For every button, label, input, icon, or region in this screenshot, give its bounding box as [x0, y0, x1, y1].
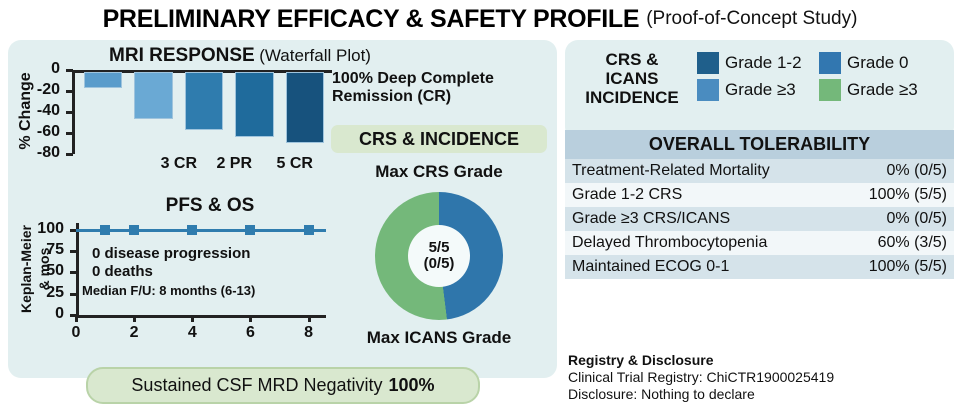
waterfall-bar [134, 72, 172, 119]
legend-item-label: Grade ≥3 [725, 80, 796, 100]
page-title-main: PRELIMINARY EFFICACY & SAFETY PROFILE [103, 5, 640, 34]
waterfall-y-tick-label: 0 [20, 64, 60, 74]
table-row: Treatment-Related Mortality 0% (0/5) [565, 159, 954, 183]
registry-disclosure: Registry & Disclosure Clinical Trial Reg… [568, 352, 958, 403]
donut-center-line2: (0/5) [424, 256, 455, 272]
km-x-tick [191, 315, 194, 322]
legend-item: Grade 0 [819, 52, 949, 74]
legend-swatch-icon [819, 52, 841, 74]
waterfall-y-tick-label: -60 [20, 127, 60, 137]
mrd-banner-value: 100% [389, 375, 435, 396]
legend-swatch-icon [697, 79, 719, 101]
table-cell-value: 100% (5/5) [828, 255, 954, 279]
legend-swatch-icon [819, 79, 841, 101]
km-note-followup: Median F/U: 8 months (6-13) [82, 283, 255, 298]
registry-heading: Registry & Disclosure [568, 352, 958, 369]
legend-title: CRS & ICANS INCIDENCE [573, 50, 691, 107]
registry-disclosure-text: Disclosure: Nothing to declare [568, 386, 958, 403]
km-x-tick [249, 315, 252, 322]
legend-items: Grade 1-2 Grade 0 Grade ≥3 Grade ≥3 [697, 52, 949, 101]
legend-item-label: Grade 0 [847, 53, 908, 73]
table-cell-label: Treatment-Related Mortality [565, 159, 828, 183]
table-row: Grade ≥3 CRS/ICANS 0% (0/5) [565, 207, 954, 231]
km-y-tick-label: 50 [24, 266, 64, 276]
table-cell-value: 0% (0/5) [828, 159, 954, 183]
waterfall-y-tick [66, 132, 73, 135]
table-cell-value: 60% (3/5) [828, 231, 954, 255]
legend-swatch-icon [697, 52, 719, 74]
cr-callout-line1: 100% Deep Complete [332, 70, 547, 88]
km-x-tick [75, 315, 78, 322]
kaplan-meier-chart: Keplan-Meier& mos0255075100024680 diseas… [14, 215, 334, 345]
table-cell-value: 0% (0/5) [828, 207, 954, 231]
donut-center-label: 5/5 (0/5) [424, 240, 455, 272]
km-data-marker [245, 225, 255, 235]
tolerability-table: OVERALL TOLERABILITY Treatment-Related M… [565, 130, 954, 279]
legend-item: Grade ≥3 [697, 79, 819, 101]
km-data-marker [304, 225, 314, 235]
mrd-banner-text: Sustained CSF MRD Negativity [131, 375, 382, 396]
waterfall-x-tick-label: 3 CR [155, 155, 203, 173]
km-x-tick [308, 315, 311, 322]
tolerability-table-body: Treatment-Related Mortality 0% (0/5) Gra… [565, 159, 954, 279]
km-note-progression: 0 disease progression [92, 245, 250, 262]
table-cell-label: Grade ≥3 CRS/ICANS [565, 207, 828, 231]
mri-response-heading: MRI RESPONSE (Waterfall Plot) [95, 45, 385, 67]
poster-figure: PRELIMINARY EFFICACY & SAFETY PROFILE (P… [0, 0, 960, 417]
crs-incidence-banner: CRS & INCIDENCE [331, 125, 547, 153]
mrd-negativity-banner: Sustained CSF MRD Negativity 100% [86, 367, 480, 404]
km-note-deaths: 0 deaths [92, 263, 153, 280]
cr-callout: 100% Deep Complete Remission (CR) [332, 70, 547, 106]
legend-item-label: Grade ≥3 [847, 80, 918, 100]
km-data-marker [100, 225, 110, 235]
km-y-tick [70, 293, 77, 296]
km-y-axis-line [76, 223, 79, 315]
waterfall-x-tick-label: 2 PR [210, 155, 258, 173]
cr-callout-line2: Remission (CR) [332, 88, 547, 106]
waterfall-bar [235, 72, 273, 137]
waterfall-bar [185, 72, 223, 130]
legend-item-label: Grade 1-2 [725, 53, 802, 73]
max-grade-donut-chart: 5/5 (0/5) [375, 186, 503, 326]
waterfall-y-tick-label: -40 [20, 106, 60, 116]
table-row: Grade 1-2 CRS 100% (5/5) [565, 183, 954, 207]
table-cell-value: 100% (5/5) [828, 183, 954, 207]
km-survival-line [76, 229, 326, 232]
registry-trial-id: Clinical Trial Registry: ChiCTR190002541… [568, 369, 958, 386]
km-x-tick-label: 6 [236, 324, 264, 342]
km-data-marker [129, 225, 139, 235]
legend-title-line2: ICANS [573, 69, 691, 88]
legend-title-line1: CRS & [573, 50, 691, 69]
waterfall-y-tick [66, 69, 73, 72]
km-x-tick-label: 0 [62, 324, 90, 342]
km-x-axis-line [76, 315, 326, 318]
waterfall-bar [286, 72, 324, 143]
km-x-tick-label: 8 [295, 324, 323, 342]
km-x-tick [133, 315, 136, 322]
km-x-tick-label: 2 [120, 324, 148, 342]
km-y-tick-label: 25 [24, 288, 64, 298]
km-y-tick [70, 250, 77, 253]
waterfall-y-tick [66, 90, 73, 93]
page-title-sub: (Proof-of-Concept Study) [646, 8, 857, 30]
waterfall-y-tick-label: -80 [20, 148, 60, 158]
table-cell-label: Grade 1-2 CRS [565, 183, 828, 207]
km-data-marker [187, 225, 197, 235]
waterfall-x-tick-label: 5 CR [271, 155, 319, 173]
legend-title-line3: INCIDENCE [573, 88, 691, 107]
table-row: Delayed Thrombocytopenia 60% (3/5) [565, 231, 954, 255]
table-header-row: OVERALL TOLERABILITY [565, 130, 954, 159]
mri-response-subtitle: (Waterfall Plot) [259, 46, 371, 65]
table-row: Maintained ECOG 0-1 100% (5/5) [565, 255, 954, 279]
table-cell-label: Maintained ECOG 0-1 [565, 255, 828, 279]
donut-center-line1: 5/5 [424, 240, 455, 256]
km-heading: PFS & OS [95, 195, 325, 217]
km-x-tick-label: 4 [178, 324, 206, 342]
table-cell-label: Delayed Thrombocytopenia [565, 231, 828, 255]
waterfall-bar [84, 72, 122, 88]
waterfall-y-tick-label: -20 [20, 85, 60, 95]
km-y-tick-label: 0 [24, 309, 64, 319]
waterfall-y-tick [66, 111, 73, 114]
donut-title-top: Max CRS Grade [331, 162, 547, 182]
km-y-tick-label: 75 [24, 245, 64, 255]
mri-response-title: MRI RESPONSE [109, 45, 255, 66]
km-y-tick-label: 100 [24, 224, 64, 234]
donut-title-bottom: Max ICANS Grade [331, 328, 547, 348]
legend-item: Grade ≥3 [819, 79, 949, 101]
km-y-tick [70, 271, 77, 274]
page-title: PRELIMINARY EFFICACY & SAFETY PROFILE (P… [0, 0, 960, 38]
tolerability-table-header: OVERALL TOLERABILITY [565, 130, 954, 159]
waterfall-chart: % Change0-20-40-60-803 CR2 PR5 CR [14, 68, 334, 176]
legend-item: Grade 1-2 [697, 52, 819, 74]
waterfall-y-tick [66, 153, 73, 156]
